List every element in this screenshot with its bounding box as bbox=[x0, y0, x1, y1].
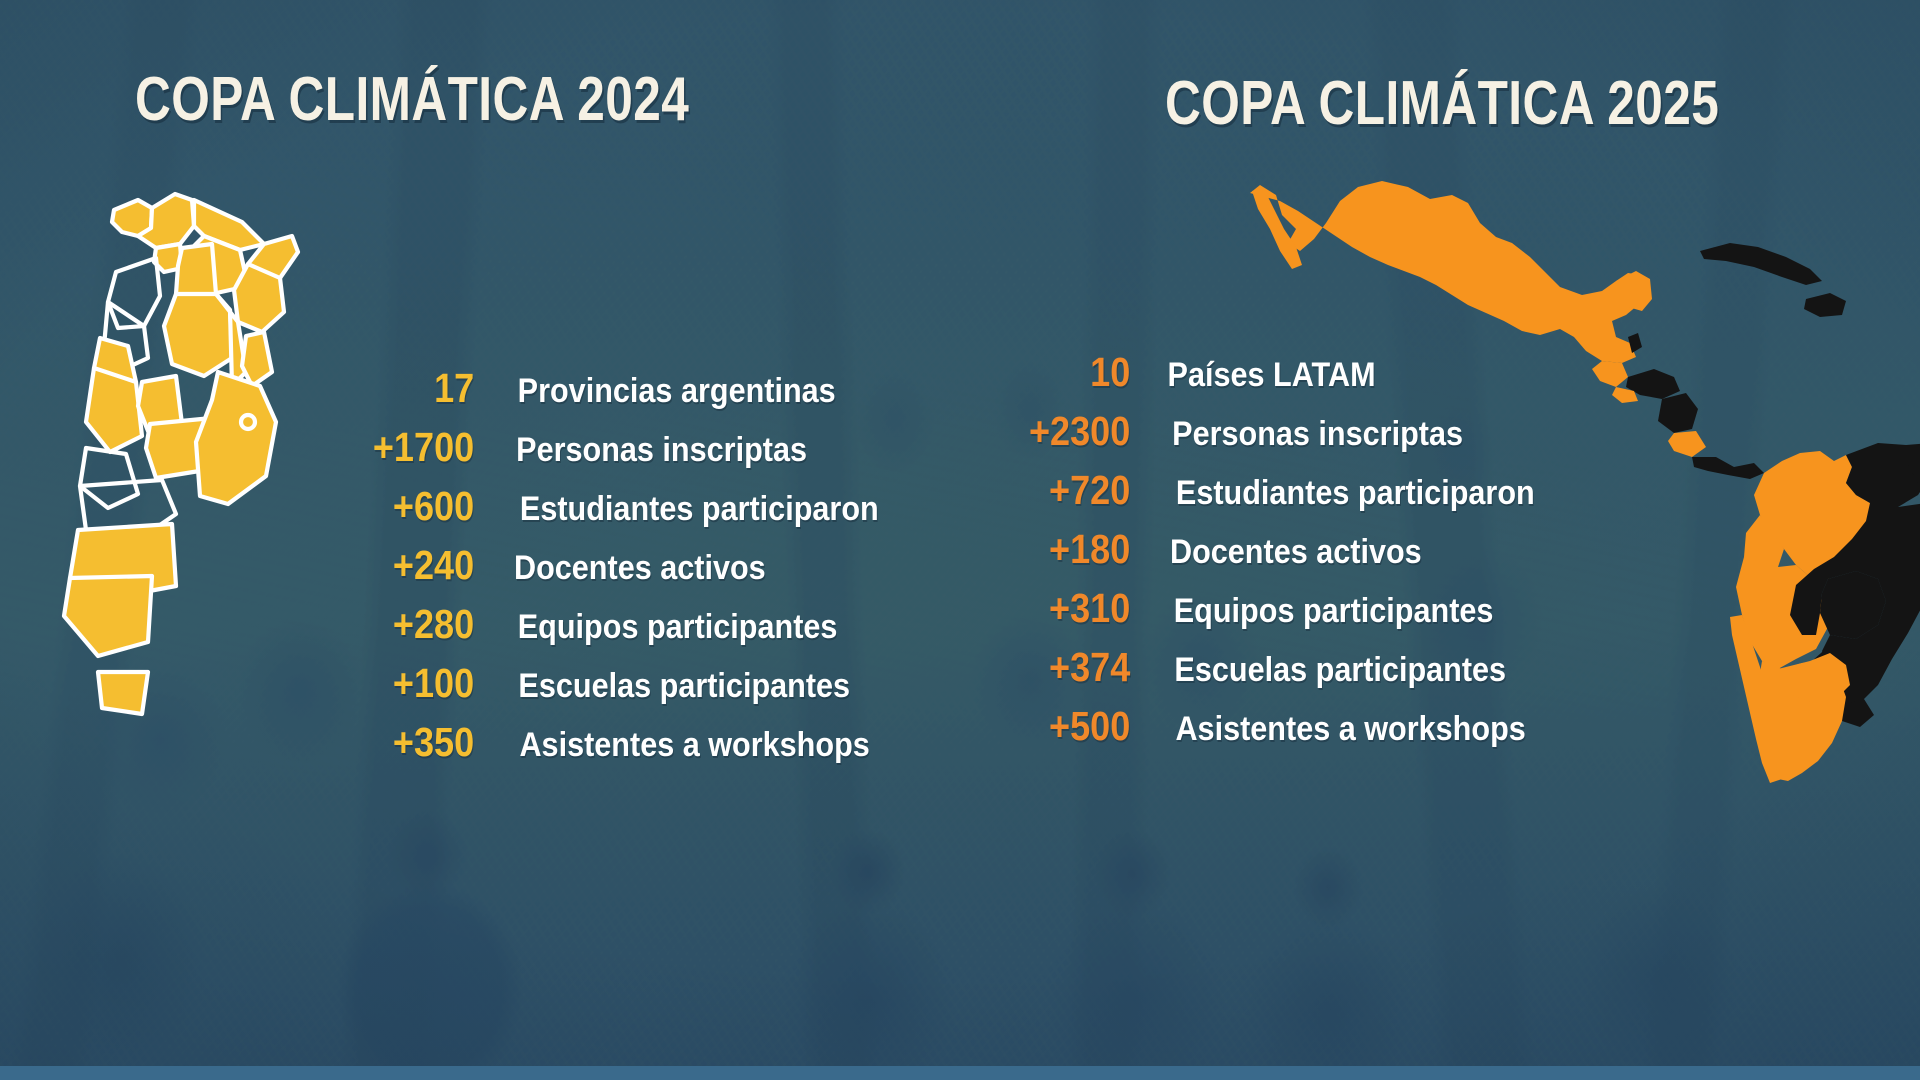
stat-row: +600 Estudiantes participaron bbox=[352, 486, 899, 545]
stat-row: +500 Asistentes a workshops bbox=[1010, 706, 1555, 765]
stat-label: Personas inscriptas bbox=[1172, 417, 1463, 451]
stat-label: Escuelas participantes bbox=[518, 669, 850, 703]
stat-value: 10 bbox=[1018, 352, 1131, 393]
stat-value: +600 bbox=[360, 486, 474, 527]
stat-value: +310 bbox=[1018, 588, 1131, 629]
stat-row: +1700 Personas inscriptas bbox=[352, 427, 899, 486]
stat-row: +280 Equipos participantes bbox=[352, 604, 899, 663]
infographic-poster: COPA CLIMÁTICA 2024 COPA CLIMÁTICA 2025 bbox=[0, 0, 1920, 1080]
stat-value: +1700 bbox=[360, 427, 474, 468]
stat-value: +720 bbox=[1018, 470, 1131, 511]
stat-row: 17 Provincias argentinas bbox=[352, 368, 899, 427]
stat-label: Docentes activos bbox=[514, 551, 766, 585]
stat-value: +280 bbox=[360, 604, 474, 645]
stat-row: +374 Escuelas participantes bbox=[1010, 647, 1555, 706]
stat-label: Docentes activos bbox=[1170, 535, 1422, 569]
stat-value: 17 bbox=[360, 368, 474, 409]
stat-label: Asistentes a workshops bbox=[1175, 712, 1525, 746]
stat-row: +180 Docentes activos bbox=[1010, 529, 1555, 588]
title-copa-climatica-2024: COPA CLIMÁTICA 2024 bbox=[135, 64, 689, 135]
stat-label: Estudiantes participaron bbox=[1176, 476, 1535, 510]
stat-label: Provincias argentinas bbox=[518, 374, 836, 408]
stat-row: +240 Docentes activos bbox=[352, 545, 899, 604]
title-copa-climatica-2025: COPA CLIMÁTICA 2025 bbox=[1165, 68, 1719, 139]
stat-row: 10 Países LATAM bbox=[1010, 352, 1555, 411]
stat-value: +180 bbox=[1018, 529, 1131, 570]
stats-list-2024: 17 Provincias argentinas +1700 Personas … bbox=[352, 368, 899, 781]
stat-row: +350 Asistentes a workshops bbox=[352, 722, 899, 781]
background-vignette bbox=[0, 0, 1920, 1080]
stat-label: Asistentes a workshops bbox=[519, 728, 869, 762]
stat-label: Países LATAM bbox=[1168, 358, 1376, 392]
stat-row: +720 Estudiantes participaron bbox=[1010, 470, 1555, 529]
stat-label: Estudiantes participaron bbox=[520, 492, 879, 526]
stat-value: +100 bbox=[360, 663, 474, 704]
stats-list-2025: 10 Países LATAM +2300 Personas inscripta… bbox=[1010, 352, 1555, 765]
stat-row: +310 Equipos participantes bbox=[1010, 588, 1555, 647]
stat-value: +374 bbox=[1018, 647, 1131, 688]
stat-label: Equipos participantes bbox=[518, 610, 838, 644]
stat-label: Escuelas participantes bbox=[1174, 653, 1506, 687]
stat-label: Personas inscriptas bbox=[516, 433, 807, 467]
stat-row: +100 Escuelas participantes bbox=[352, 663, 899, 722]
bottom-accent-bar bbox=[0, 1066, 1920, 1080]
stat-value: +500 bbox=[1018, 706, 1131, 747]
stat-value: +350 bbox=[360, 722, 474, 763]
stat-value: +2300 bbox=[1018, 411, 1131, 452]
stat-row: +2300 Personas inscriptas bbox=[1010, 411, 1555, 470]
stat-value: +240 bbox=[360, 545, 474, 586]
stat-label: Equipos participantes bbox=[1174, 594, 1494, 628]
